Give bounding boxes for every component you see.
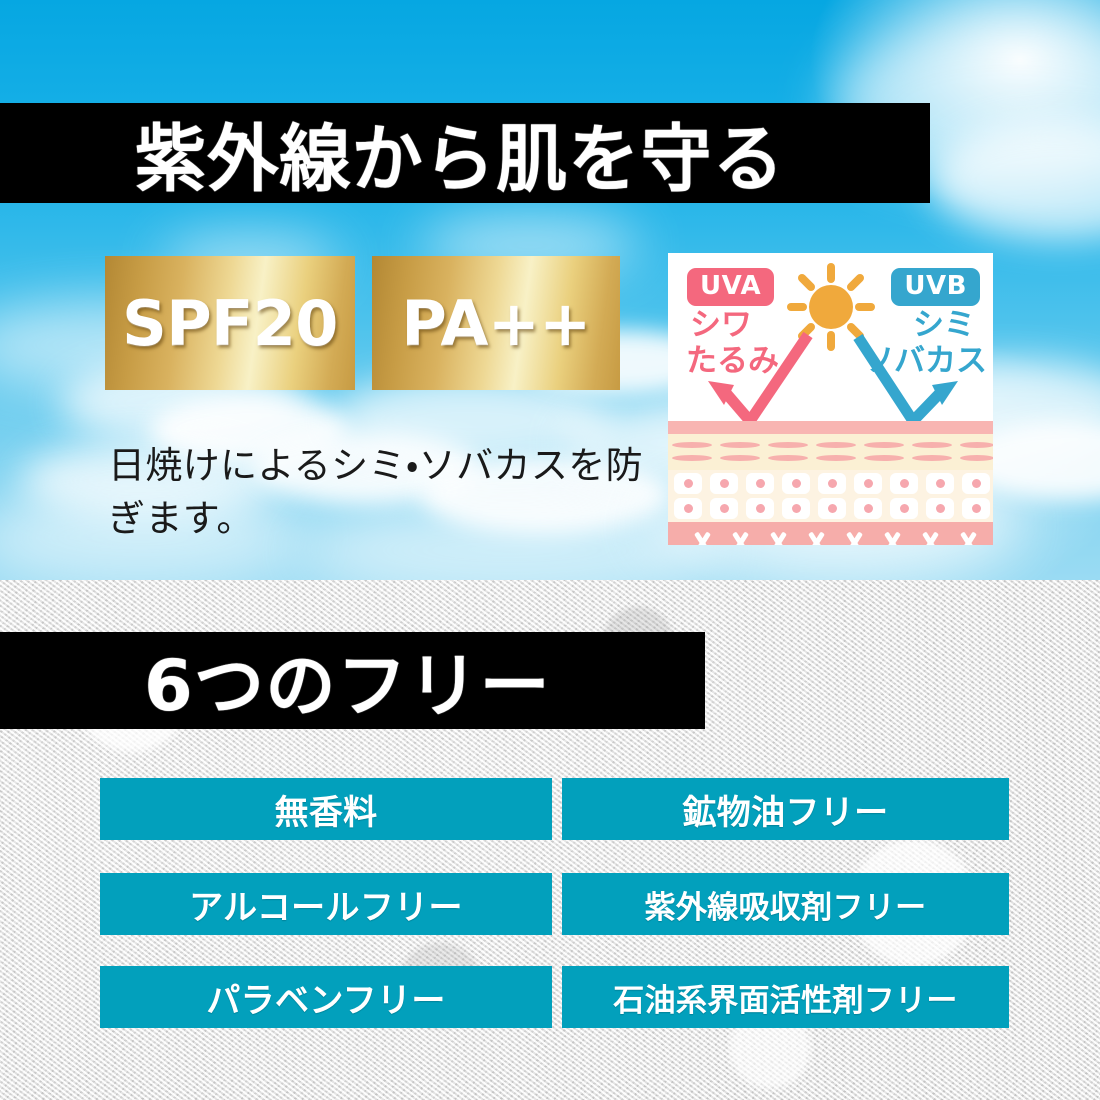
free-item-uv-absorber: 紫外線吸収剤フリー: [562, 873, 1009, 935]
x-mark-icon: [880, 531, 904, 545]
uv-body-text: 日焼けによるシミ・ソバカスを防ぎます。: [108, 440, 668, 545]
free-item-label: パラベンフリー: [206, 973, 445, 1022]
x-mark-icon: [766, 531, 790, 545]
free-item-label: 無香料: [274, 785, 377, 834]
marketing-infographic: 紫外線から肌を守る SPF20 PA++ 日焼けによるシミ・ソバカスを防ぎます。: [0, 0, 1100, 1100]
skin-dermis-layer: [668, 434, 993, 470]
x-mark-icon: [918, 531, 942, 545]
pa-badge: PA++: [372, 256, 620, 390]
uv-headline-text: 紫外線から肌を守る: [135, 100, 785, 206]
free-item-label: 紫外線吸収剤フリー: [645, 882, 927, 927]
free-item-label: 石油系界面活性剤フリー: [613, 975, 957, 1020]
spf-badge: SPF20: [105, 256, 355, 390]
free-item-paraben: パラベンフリー: [100, 966, 552, 1028]
pa-badge-label: PA++: [401, 287, 590, 360]
uv-headline-bar: 紫外線から肌を守る: [0, 103, 930, 203]
free-item-mineral-oil: 鉱物油フリー: [562, 778, 1009, 840]
skin-surface-layer: [668, 421, 993, 434]
free-item-label: アルコールフリー: [189, 880, 463, 929]
six-free-headline-bar: 6つのフリー: [0, 632, 705, 729]
x-mark-icon: [842, 531, 866, 545]
uvb-arrow-icon: [858, 337, 958, 421]
free-item-label: 鉱物油フリー: [682, 785, 888, 834]
x-mark-icon: [804, 531, 828, 545]
skin-cells-layer: [668, 470, 993, 522]
free-item-petroleum-surfactant: 石油系界面活性剤フリー: [562, 966, 1009, 1028]
six-free-headline-text: 6つのフリー: [144, 630, 551, 731]
free-item-alcohol: アルコールフリー: [100, 873, 552, 935]
x-mark-icon: [690, 531, 714, 545]
x-mark-icon: [728, 531, 752, 545]
skin-base-layer: [668, 522, 993, 545]
uv-skin-diagram: UVA シワ たるみ UVB シミ ソバカス: [668, 253, 993, 545]
x-mark-icon: [956, 531, 980, 545]
uva-arrow-icon: [708, 335, 808, 421]
free-item-muko-ryo: 無香料: [100, 778, 552, 840]
spf-badge-label: SPF20: [122, 287, 338, 360]
